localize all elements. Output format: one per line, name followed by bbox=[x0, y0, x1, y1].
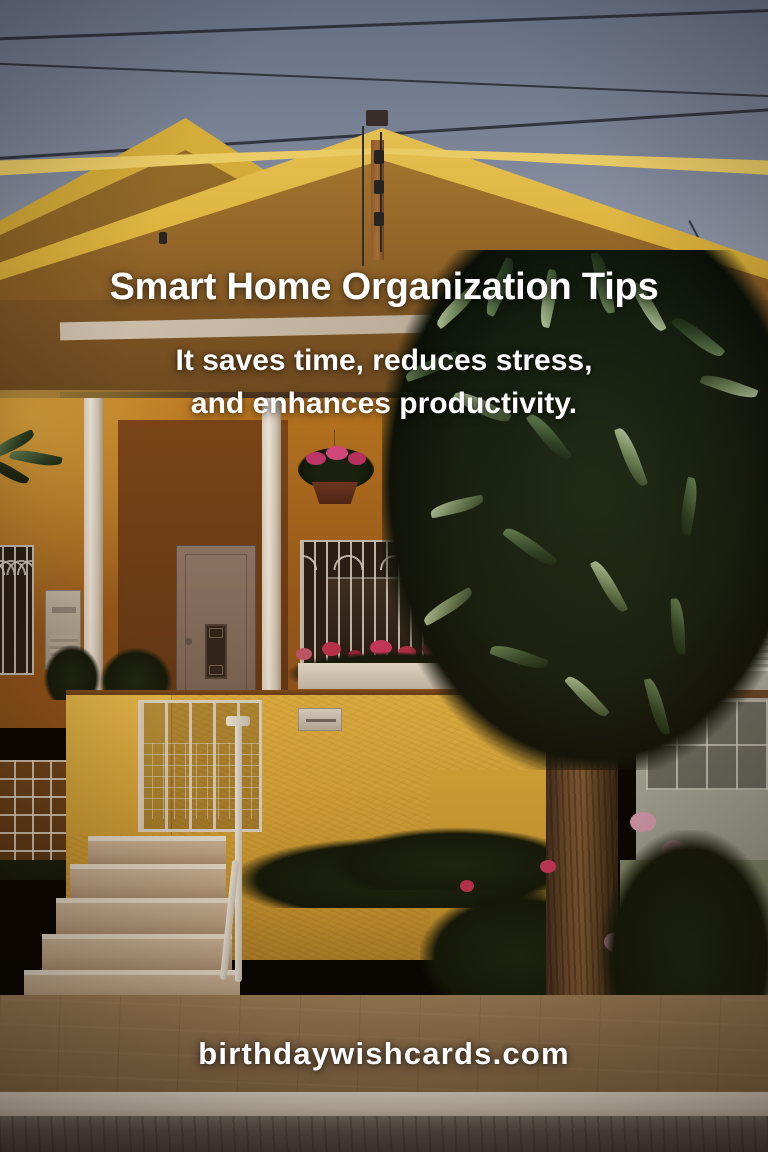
subheadline: It saves time, reduces stress, and enhan… bbox=[0, 340, 768, 425]
subheadline-line-2: and enhances productivity. bbox=[0, 383, 768, 426]
poster-image: Smart Home Organization Tips It saves ti… bbox=[0, 0, 768, 1152]
headline: Smart Home Organization Tips bbox=[0, 268, 768, 308]
text-overlay: Smart Home Organization Tips It saves ti… bbox=[0, 0, 768, 1152]
website-watermark: birthdaywishcards.com bbox=[0, 1036, 768, 1072]
subheadline-line-1: It saves time, reduces stress, bbox=[0, 340, 768, 383]
